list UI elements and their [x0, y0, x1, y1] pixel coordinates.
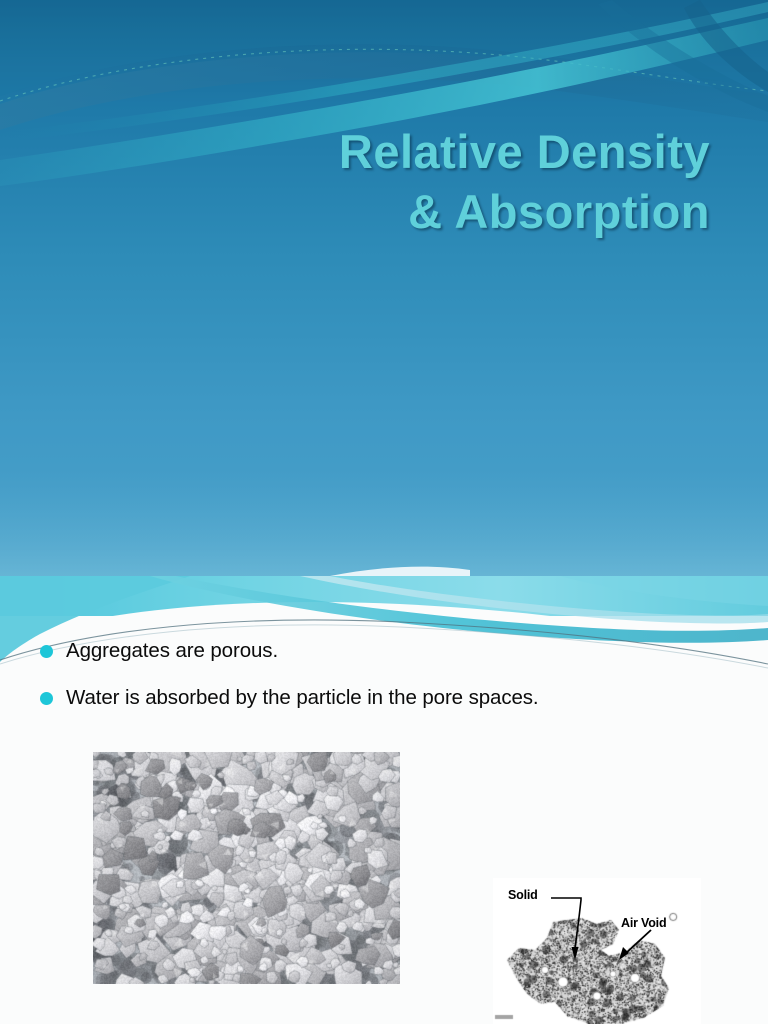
air-void-label: Air Void: [621, 916, 666, 930]
list-item: Aggregates are porous.: [40, 638, 740, 663]
solid-arrow-line: [551, 898, 581, 948]
list-item: Water is absorbed by the particle in the…: [40, 685, 740, 710]
airvoid-arrow-line: [625, 930, 651, 954]
solid-arrow-head: [572, 947, 579, 960]
content-slide: Aggregates are porous. Water is absorbed…: [0, 576, 768, 1024]
title-slide: Relative Density & Absorption: [0, 0, 768, 576]
page-title: Relative Density & Absorption: [60, 122, 710, 241]
aggregate-photo-canvas: [93, 752, 400, 984]
bullet-dot-icon: [40, 645, 53, 658]
bullet-list: Aggregates are porous. Water is absorbed…: [40, 638, 740, 732]
bullet-text: Water is absorbed by the particle in the…: [66, 685, 539, 710]
bullet-dot-icon: [40, 692, 53, 705]
aggregate-photo: [93, 752, 400, 984]
title-slide-wave-decoration: [0, 0, 768, 576]
bullet-text: Aggregates are porous.: [66, 638, 278, 663]
title-line-1: Relative Density: [60, 122, 710, 182]
porosity-diagram: Solid Air Void: [493, 878, 701, 1024]
title-line-2: & Absorption: [60, 182, 710, 242]
airvoid-arrow-head: [619, 947, 629, 960]
solid-label: Solid: [508, 888, 538, 902]
